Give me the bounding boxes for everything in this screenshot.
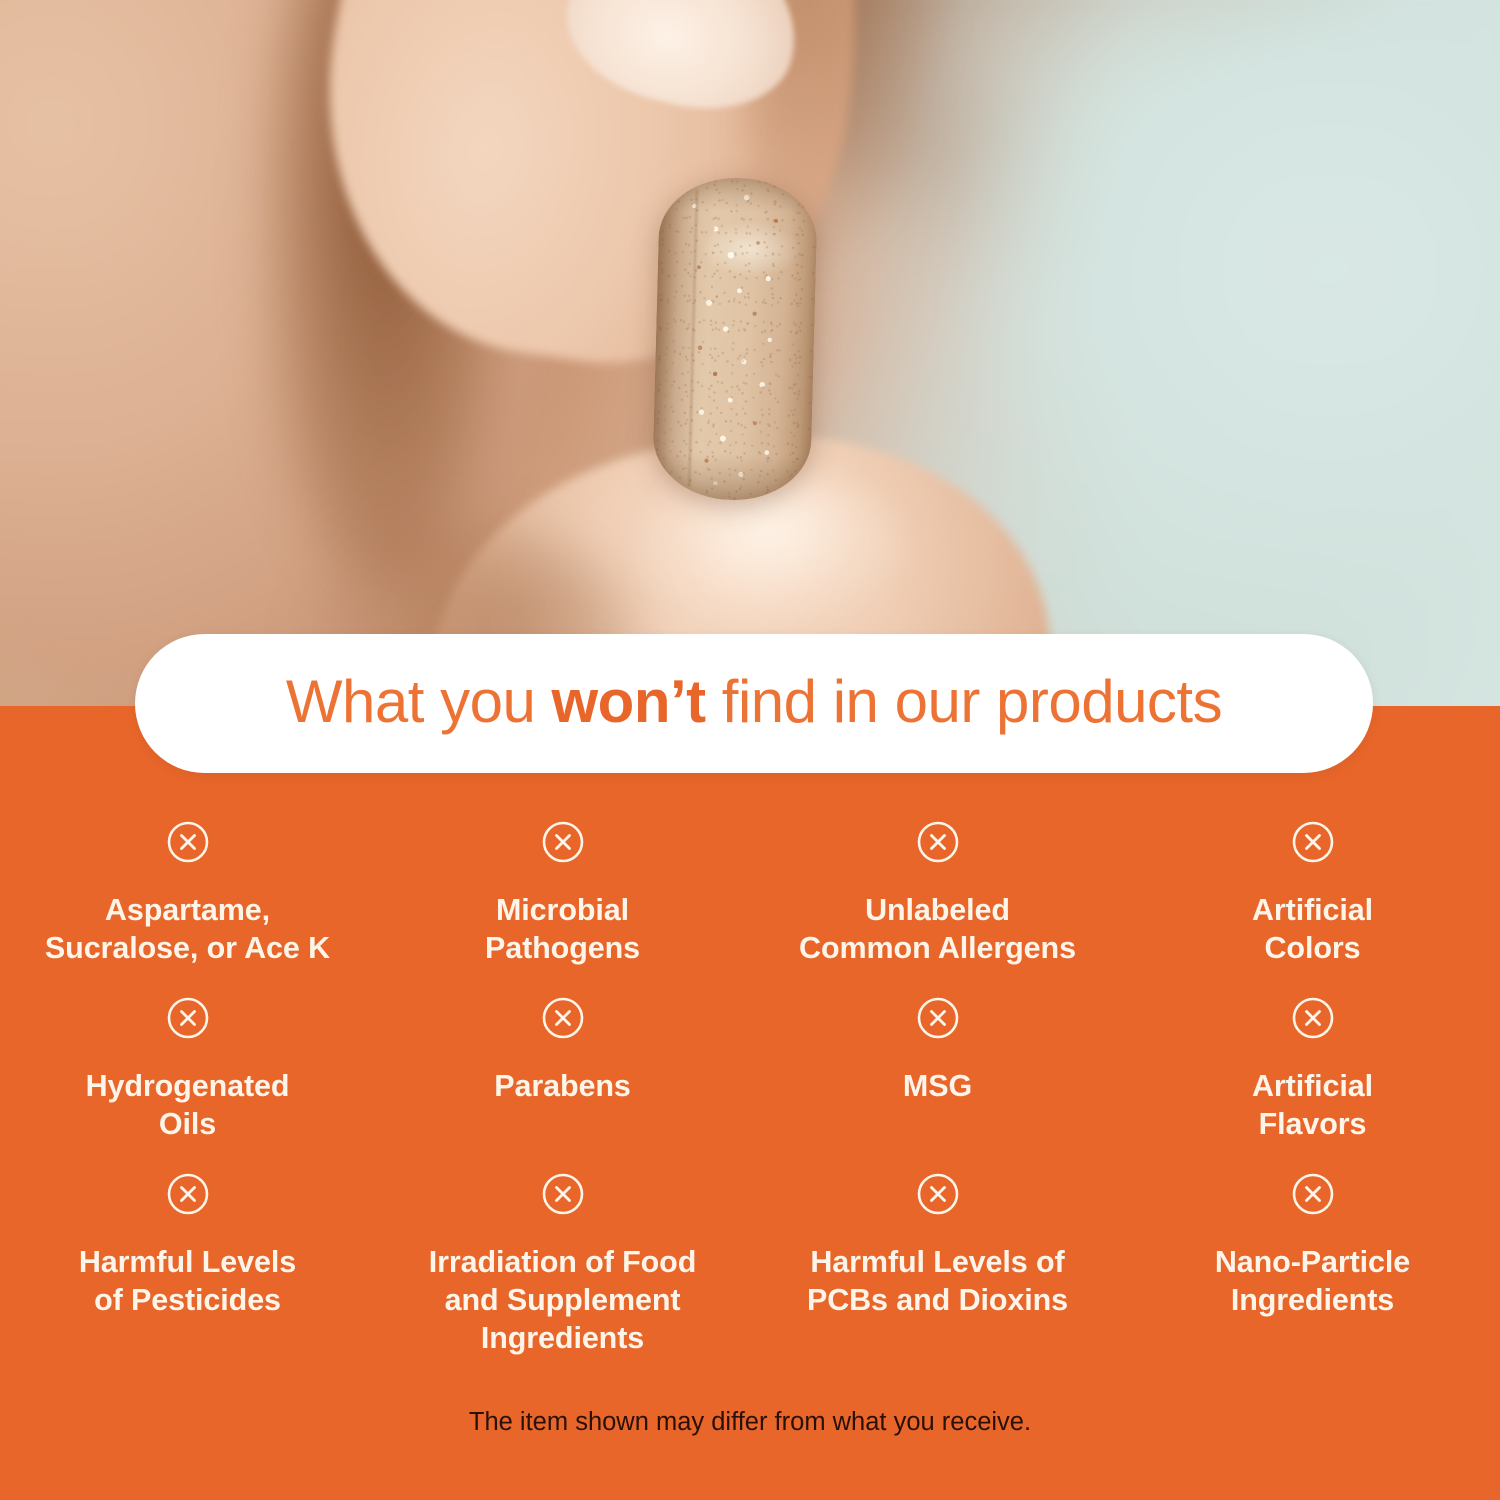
grid-item-label: Artificial Flavors xyxy=(1252,1067,1373,1143)
circle-x-icon xyxy=(166,996,210,1040)
grid-item-label: Unlabeled Common Allergens xyxy=(799,891,1076,967)
grid-item: Harmful Levels of PCBs and Dioxins xyxy=(750,1172,1125,1372)
headline-text-before: What you xyxy=(286,668,552,735)
grid-item-label: MSG xyxy=(903,1067,972,1105)
grid-item-label: Hydrogenated Oils xyxy=(86,1067,290,1143)
circle-x-icon xyxy=(541,820,585,864)
product-infographic: What you won’t find in our products Aspa… xyxy=(0,0,1500,1500)
headline-pill: What you won’t find in our products xyxy=(135,634,1373,773)
grid-item-label: Harmful Levels of PCBs and Dioxins xyxy=(807,1243,1068,1319)
grid-item: Harmful Levels of Pesticides xyxy=(0,1172,375,1372)
grid-item-label: Parabens xyxy=(494,1067,631,1105)
grid-item: Aspartame, Sucralose, or Ace K xyxy=(0,820,375,996)
product-photo xyxy=(0,0,1500,712)
grid-item: Parabens xyxy=(375,996,750,1172)
grid-item-label: Nano-Particle Ingredients xyxy=(1215,1243,1410,1319)
grid-item: Artificial Flavors xyxy=(1125,996,1500,1172)
circle-x-icon xyxy=(166,1172,210,1216)
circle-x-icon xyxy=(1291,1172,1335,1216)
grid-item: Irradiation of Food and Supplement Ingre… xyxy=(375,1172,750,1372)
circle-x-icon xyxy=(541,1172,585,1216)
grid-item-label: Artificial Colors xyxy=(1252,891,1373,967)
tablet-bottom-shading xyxy=(652,452,811,502)
tablet-top-shading xyxy=(659,176,818,214)
circle-x-icon xyxy=(166,820,210,864)
headline-emphasis: won’t xyxy=(552,668,706,735)
circle-x-icon xyxy=(916,996,960,1040)
grid-item: Microbial Pathogens xyxy=(375,820,750,996)
grid-item: Unlabeled Common Allergens xyxy=(750,820,1125,996)
grid-item: Nano-Particle Ingredients xyxy=(1125,1172,1500,1372)
grid-item-label: Harmful Levels of Pesticides xyxy=(79,1243,296,1319)
grid-item-label: Microbial Pathogens xyxy=(485,891,640,967)
grid-item: Artificial Colors xyxy=(1125,820,1500,996)
supplement-tablet xyxy=(652,176,818,502)
grid-item-label: Aspartame, Sucralose, or Ace K xyxy=(45,891,330,967)
grid-item: Hydrogenated Oils xyxy=(0,996,375,1172)
page-title: What you won’t find in our products xyxy=(286,672,1222,736)
disclaimer-text: The item shown may differ from what you … xyxy=(0,1405,1500,1439)
circle-x-icon xyxy=(916,1172,960,1216)
excluded-ingredients-grid: Aspartame, Sucralose, or Ace K Microbial… xyxy=(0,820,1500,1372)
circle-x-icon xyxy=(1291,996,1335,1040)
circle-x-icon xyxy=(541,996,585,1040)
circle-x-icon xyxy=(1291,820,1335,864)
headline-text-after: find in our products xyxy=(706,668,1222,735)
circle-x-icon xyxy=(916,820,960,864)
grid-item: MSG xyxy=(750,996,1125,1172)
grid-item-label: Irradiation of Food and Supplement Ingre… xyxy=(429,1243,697,1357)
